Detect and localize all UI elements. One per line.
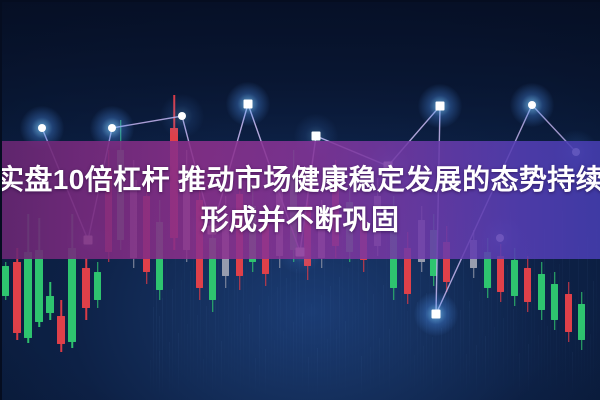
- headline-line-1: 实盘10倍杠杆 推动市场健康稳定发展的态势持续: [0, 161, 600, 199]
- banner-image: 实盘10倍杠杆 推动市场健康稳定发展的态势持续 形成并不断巩固: [0, 0, 600, 400]
- headline-text-block: 实盘10倍杠杆 推动市场健康稳定发展的态势持续 形成并不断巩固: [0, 141, 600, 259]
- headline-line-2: 形成并不断巩固: [201, 201, 400, 239]
